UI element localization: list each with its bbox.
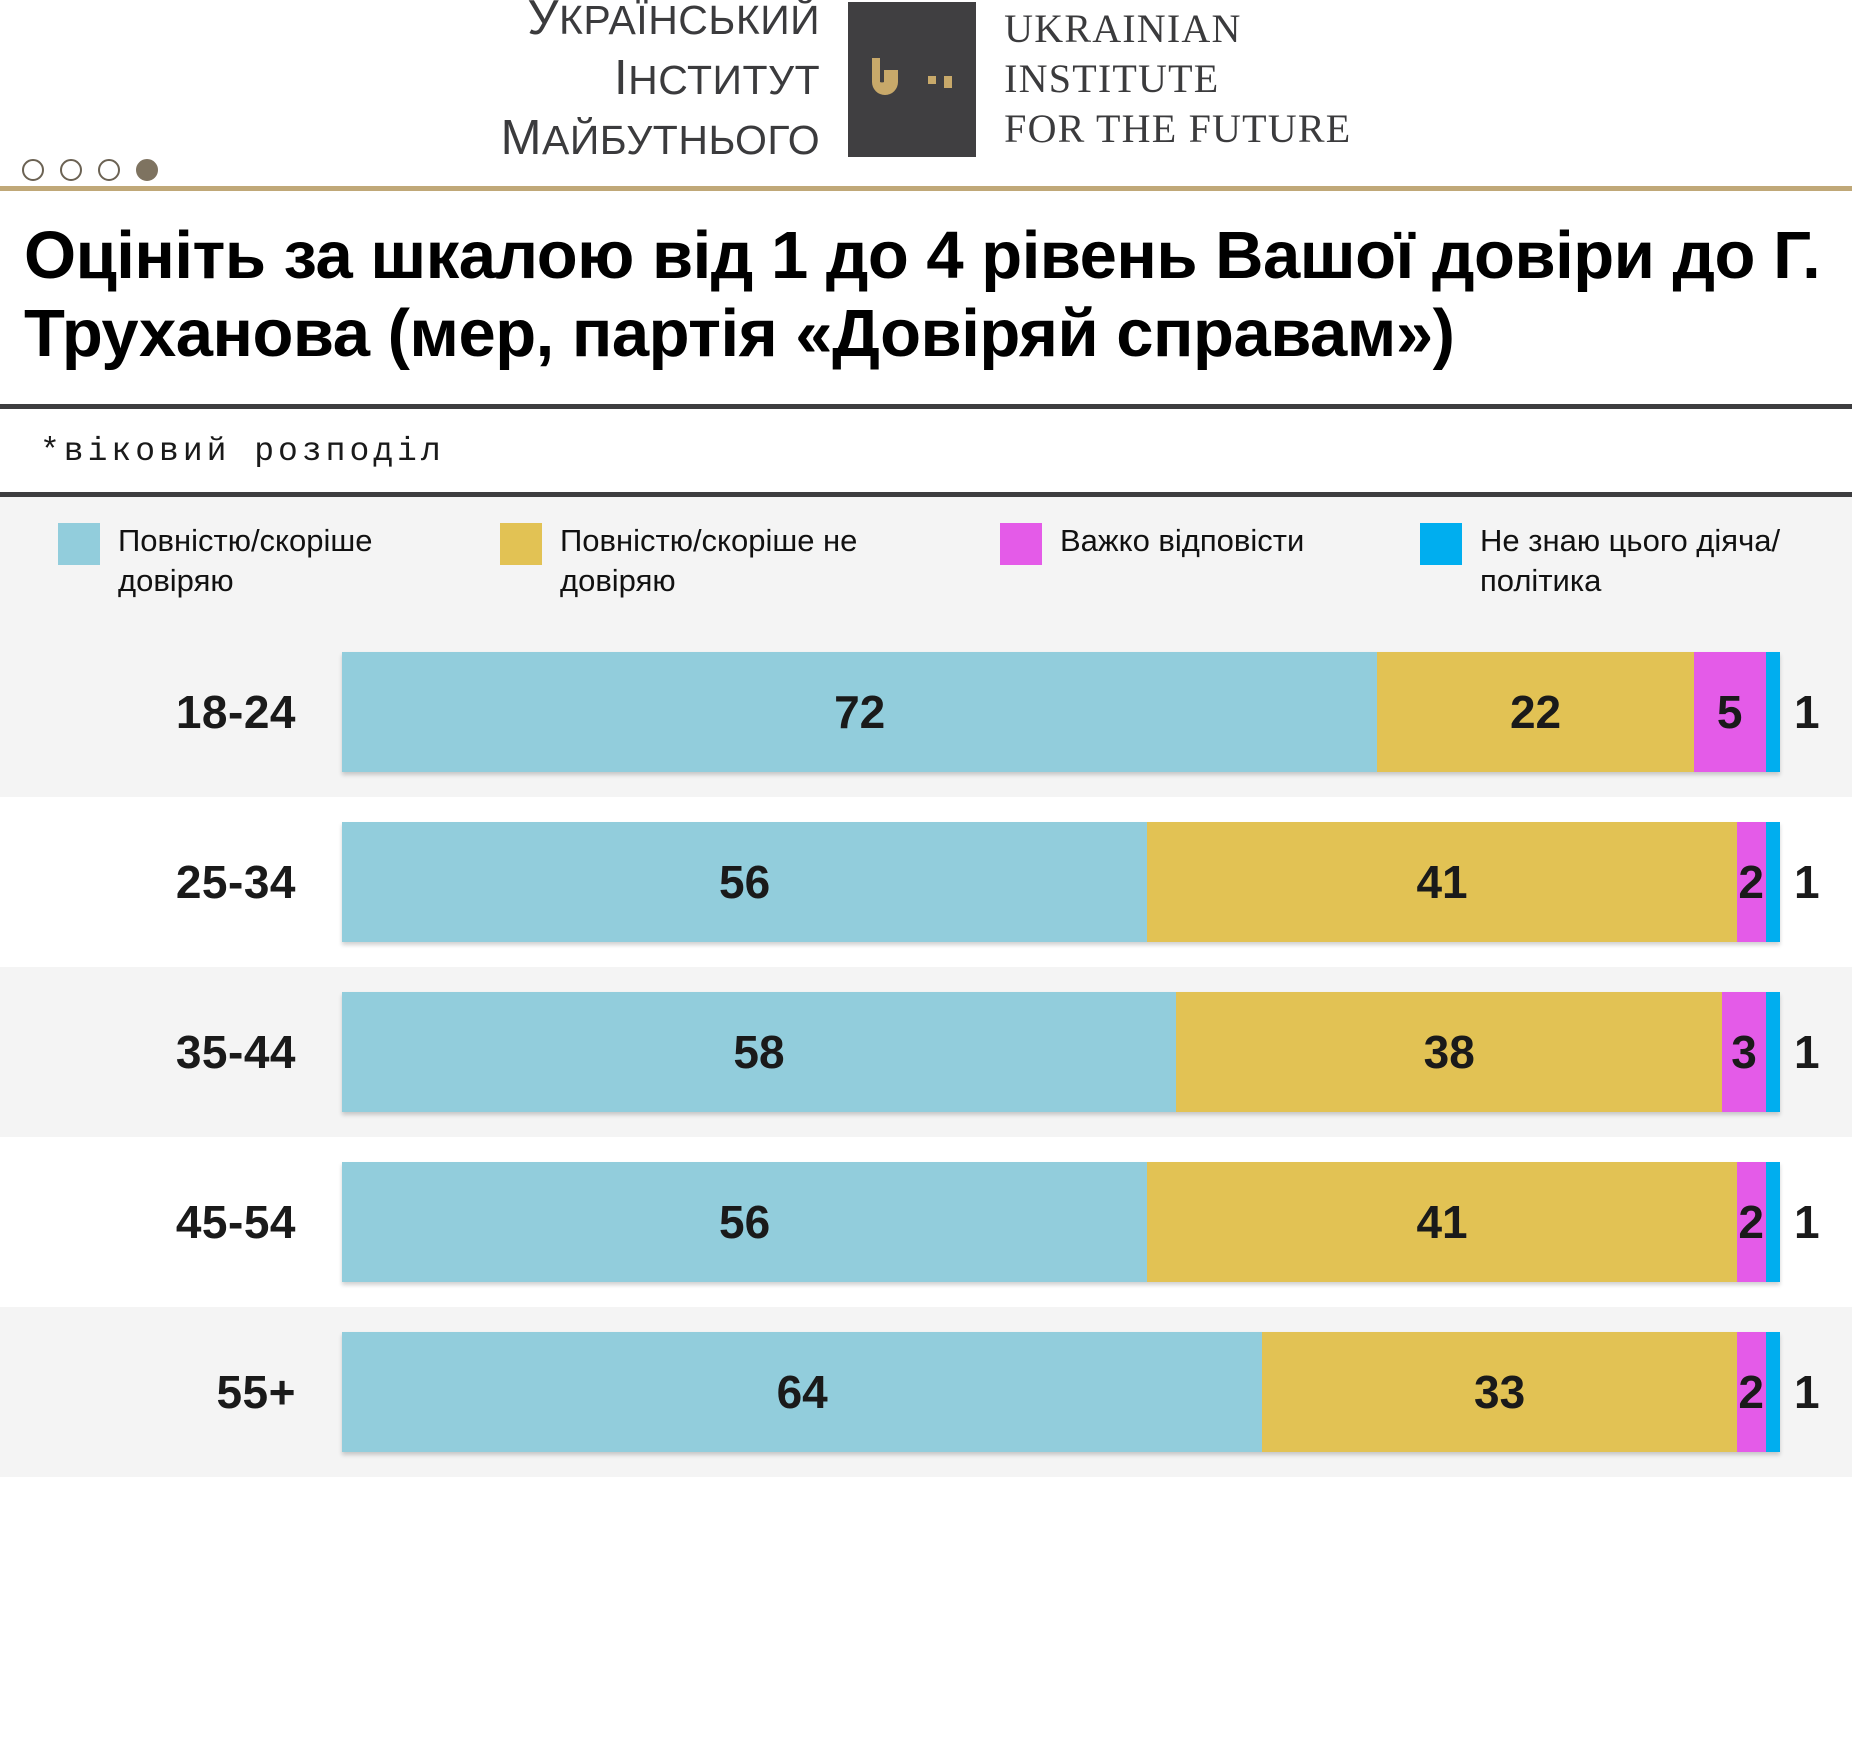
subtitle-note: *віковий розподіл: [40, 433, 445, 470]
legend-swatch-distrust: [500, 523, 542, 565]
segment-trust: 56: [342, 1162, 1147, 1282]
pager-dot-4-active[interactable]: [136, 159, 158, 181]
chart-legend: Повністю/скоріше довіряю Повністю/скоріш…: [0, 497, 1852, 628]
brand-name-ua-line-3: Майбутнього: [501, 109, 821, 169]
segment-unknown-politician: [1766, 652, 1780, 772]
segment-unknown-politician: [1766, 1332, 1780, 1452]
brand-logo: Український Інститут Майбутнього Ukraini…: [0, 0, 1852, 140]
brand-name-ua-line-2: Інститут: [501, 49, 821, 109]
segment-distrust: 22: [1377, 652, 1693, 772]
legend-item-trust: Повністю/скоріше довіряю: [0, 521, 500, 602]
segment-distrust: 38: [1176, 992, 1722, 1112]
segment-hard-to-answer: 2: [1737, 822, 1766, 942]
bar-55-plus: 64 33 2: [342, 1332, 1780, 1452]
subtitle-container: *віковий розподіл: [0, 409, 1852, 492]
table-row: 45-54 56 41 2 1: [0, 1137, 1852, 1307]
segment-hard-to-answer: 2: [1737, 1162, 1766, 1282]
segment-unknown-politician: [1766, 1162, 1780, 1282]
row-label-25-34: 25-34: [0, 855, 342, 909]
table-row: 55+ 64 33 2 1: [0, 1307, 1852, 1477]
row-label-55-plus: 55+: [0, 1365, 342, 1419]
pager-dot-1[interactable]: [22, 159, 44, 181]
pager-dot-3[interactable]: [98, 159, 120, 181]
page-title: Оцініть за шкалою від 1 до 4 рівень Вашо…: [0, 191, 1852, 404]
value-label-unknown-politician: 1: [1780, 1365, 1820, 1419]
brand-name-en-line-1: Ukrainian: [1004, 4, 1351, 54]
brand-name-ua: Український Інститут Майбутнього: [501, 0, 849, 169]
value-label-unknown-politician: 1: [1780, 1025, 1820, 1079]
bar-45-54: 56 41 2: [342, 1162, 1780, 1282]
value-label-unknown-politician: 1: [1780, 1195, 1820, 1249]
legend-item-distrust: Повністю/скоріше не довіряю: [500, 521, 1000, 602]
row-label-35-44: 35-44: [0, 1025, 342, 1079]
value-label-unknown-politician: 1: [1780, 855, 1820, 909]
segment-trust: 56: [342, 822, 1147, 942]
table-row: 25-34 56 41 2 1: [0, 797, 1852, 967]
legend-swatch-hard-to-answer: [1000, 523, 1042, 565]
segment-distrust: 33: [1262, 1332, 1737, 1452]
legend-swatch-unknown-politician: [1420, 523, 1462, 565]
segment-hard-to-answer: 2: [1737, 1332, 1766, 1452]
segment-trust: 72: [342, 652, 1377, 772]
value-label-unknown-politician: 1: [1780, 685, 1820, 739]
stacked-bar-chart: 18-24 72 22 5 1 25-34 56 41 2 1 35-44 58…: [0, 627, 1852, 1477]
bar-25-34: 56 41 2: [342, 822, 1780, 942]
legend-label-trust: Повністю/скоріше довіряю: [118, 521, 448, 602]
legend-label-distrust: Повністю/скоріше не довіряю: [560, 521, 890, 602]
legend-item-hard-to-answer: Важко відповісти: [1000, 521, 1420, 565]
brand-name-en-line-2: Institute: [1004, 54, 1351, 104]
segment-unknown-politician: [1766, 992, 1780, 1112]
segment-unknown-politician: [1766, 822, 1780, 942]
bar-35-44: 58 38 3: [342, 992, 1780, 1112]
brand-name-ua-line-1: Український: [501, 0, 821, 49]
segment-trust: 58: [342, 992, 1176, 1112]
brand-name-en-line-3: for the Future: [1004, 104, 1351, 154]
segment-hard-to-answer: 5: [1694, 652, 1766, 772]
segment-distrust: 41: [1147, 822, 1737, 942]
brand-name-en: Ukrainian Institute for the Future: [976, 4, 1351, 154]
legend-label-hard-to-answer: Важко відповісти: [1060, 521, 1304, 561]
legend-item-unknown-politician: Не знаю цього діяча/політика: [1420, 521, 1850, 602]
bar-18-24: 72 22 5: [342, 652, 1780, 772]
table-row: 18-24 72 22 5 1: [0, 627, 1852, 797]
legend-swatch-trust: [58, 523, 100, 565]
segment-distrust: 41: [1147, 1162, 1737, 1282]
table-row: 35-44 58 38 3 1: [0, 967, 1852, 1137]
segment-hard-to-answer: 3: [1722, 992, 1765, 1112]
row-label-45-54: 45-54: [0, 1195, 342, 1249]
row-label-18-24: 18-24: [0, 685, 342, 739]
segment-trust: 64: [342, 1332, 1262, 1452]
legend-label-unknown-politician: Не знаю цього діяча/політика: [1480, 521, 1810, 602]
pager-dot-2[interactable]: [60, 159, 82, 181]
key-icon: [848, 2, 976, 157]
